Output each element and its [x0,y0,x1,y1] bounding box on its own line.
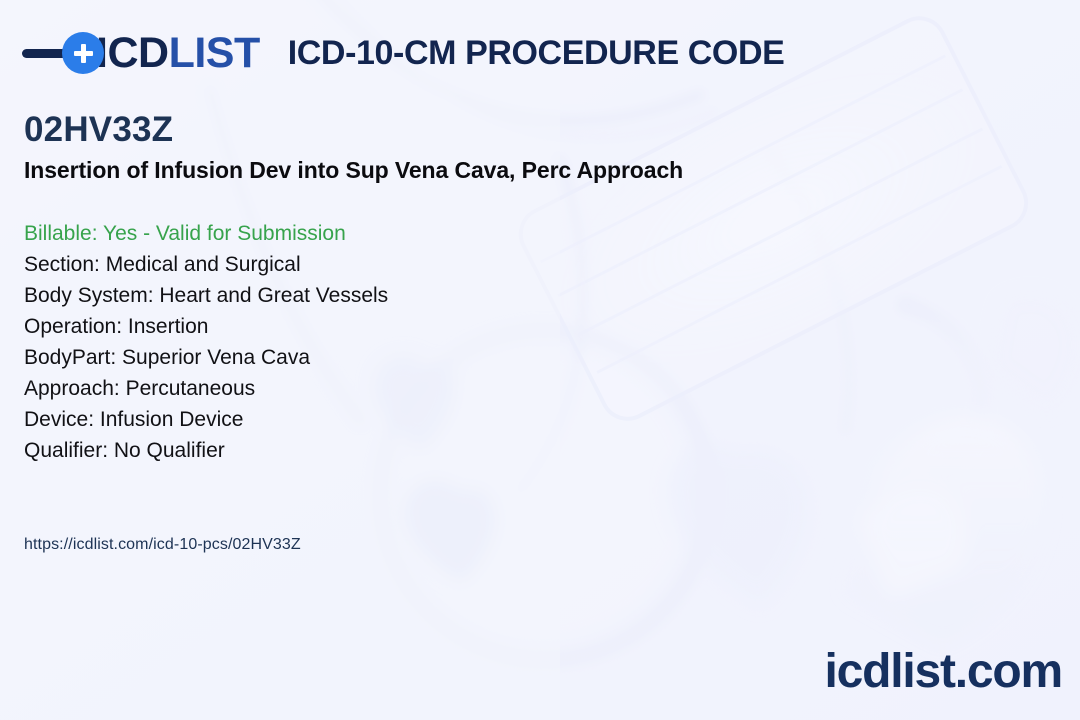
detail-device: Device: Infusion Device [24,404,884,435]
detail-approach: Approach: Percutaneous [24,373,884,404]
detail-billable: Billable: Yes - Valid for Submission [24,218,884,249]
code-detail-list: Billable: Yes - Valid for Submission Sec… [24,218,884,466]
detail-operation: Operation: Insertion [24,311,884,342]
plus-icon [62,32,104,74]
site-watermark: icdlist.com [824,648,1062,696]
icd-code-card: ICDLIST ICD-10-CM PROCEDURE CODE 02HV33Z… [0,0,1080,720]
logo-text-list: LIST [169,29,260,77]
code-content: 02HV33Z Insertion of Infusion Dev into S… [24,110,884,466]
page-title: ICD-10-CM PROCEDURE CODE [288,36,785,70]
detail-body-part: BodyPart: Superior Vena Cava [24,342,884,373]
icdlist-logo[interactable]: ICDLIST [22,26,260,80]
detail-section: Section: Medical and Surgical [24,249,884,280]
source-url[interactable]: https://icdlist.com/icd-10-pcs/02HV33Z [24,536,301,554]
logo-text-icd: ICD [96,29,169,77]
detail-body-system: Body System: Heart and Great Vessels [24,280,884,311]
detail-qualifier: Qualifier: No Qualifier [24,435,884,466]
procedure-code-description: Insertion of Infusion Dev into Sup Vena … [24,156,884,185]
page-header: ICDLIST ICD-10-CM PROCEDURE CODE [22,26,784,80]
procedure-code-value: 02HV33Z [24,110,884,150]
